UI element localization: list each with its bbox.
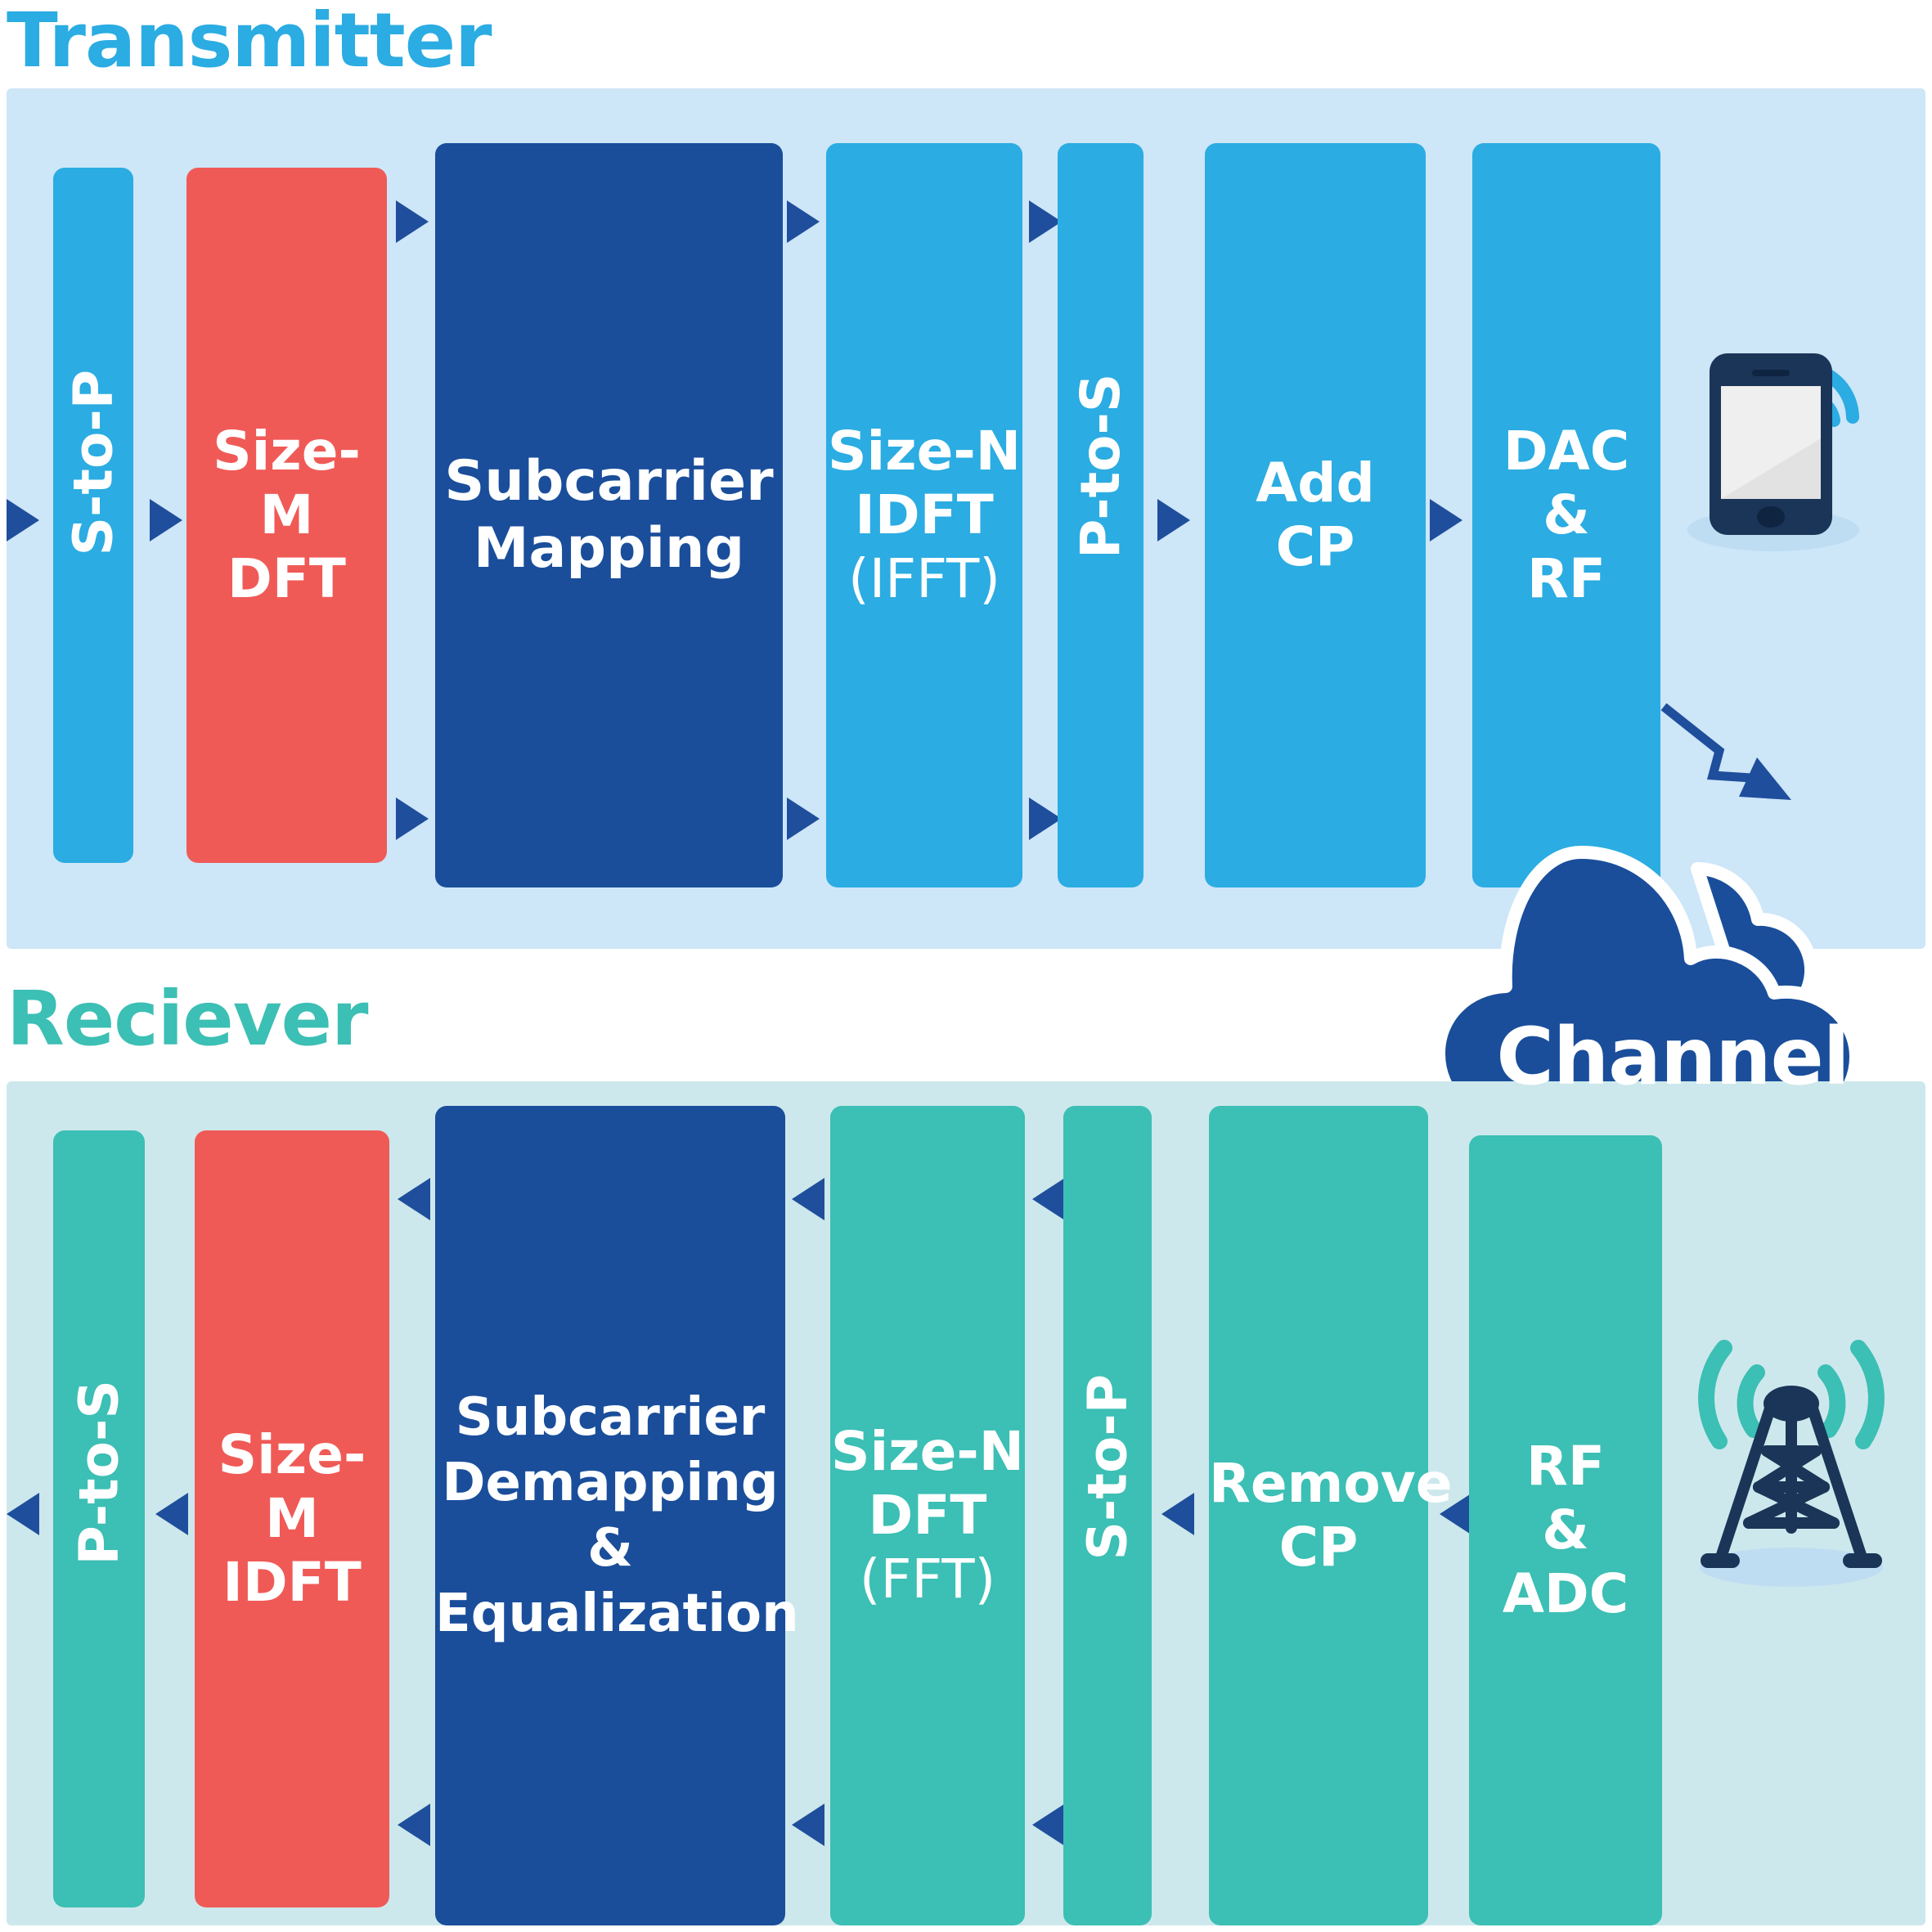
arrow-dft-to-mapping-bottom <box>396 798 429 840</box>
rx-block-size-n-dft-line1: Size-N <box>830 1420 1025 1484</box>
arrow-dft-to-demapping-bottom <box>792 1804 824 1846</box>
tx-block-add-cp[interactable]: Add CP <box>1205 143 1426 887</box>
arrow-s-to-p-to-dft <box>150 499 182 541</box>
arrow-s-to-p-to-dft-top <box>1032 1178 1065 1220</box>
arrow-dft-to-demapping-top <box>792 1178 824 1220</box>
smartphone-icon <box>1685 327 1873 556</box>
rx-block-subcarrier-demapping[interactable]: Subcarrier Demapping & Equalization <box>435 1106 785 1925</box>
tx-block-dac-rf-line1: DAC <box>1472 420 1660 483</box>
tx-block-subcarrier-mapping-line1: Subcarrier <box>435 448 783 515</box>
arrow-mapping-to-idft-top <box>787 200 820 243</box>
arrow-idft-to-p-to-s <box>155 1493 188 1535</box>
diagram-canvas: Transmitter S-to-P Size-M DFT Subcarrier… <box>0 0 1932 1932</box>
rx-block-size-n-dft[interactable]: Size-N DFT (FFT) <box>830 1106 1025 1925</box>
arrow-dft-to-mapping-top <box>396 200 429 243</box>
rx-block-rf-adc[interactable]: RF & ADC <box>1469 1135 1662 1925</box>
rx-block-p-to-s[interactable]: P-to-S <box>53 1130 145 1907</box>
arrow-s-to-p-to-dft-bottom <box>1032 1804 1065 1846</box>
tx-block-dac-rf-line3: RF <box>1472 547 1660 611</box>
rx-block-p-to-s-label: P-to-S <box>68 1380 131 1565</box>
rx-block-rf-adc-line2: & <box>1469 1498 1662 1562</box>
rx-block-size-m-idft[interactable]: Size-M IDFT <box>195 1130 389 1907</box>
tx-block-size-n-idft-line2: IDFT <box>826 483 1022 547</box>
rx-block-size-m-idft-line2: IDFT <box>195 1551 389 1615</box>
tx-block-subcarrier-mapping[interactable]: Subcarrier Mapping <box>435 143 783 887</box>
tx-block-p-to-s[interactable]: P-to-S <box>1058 143 1143 887</box>
arrow-mapping-to-idft-bottom <box>787 798 820 840</box>
rx-block-remove-cp-line1: Remove <box>1209 1452 1428 1516</box>
tx-block-size-n-idft-line1: Size-N <box>826 420 1022 483</box>
arrow-idft-to-p-to-s-top <box>1029 200 1062 243</box>
arrow-add-cp-to-dac-rf <box>1430 499 1462 541</box>
rx-block-subcarrier-demapping-line1: Subcarrier <box>435 1385 785 1450</box>
rx-block-size-n-dft-line2: DFT <box>830 1484 1025 1548</box>
arrow-remove-cp-to-s-to-p <box>1161 1493 1194 1535</box>
rx-block-size-m-idft-line1: Size-M <box>195 1423 389 1551</box>
rx-block-s-to-p[interactable]: S-to-P <box>1063 1106 1152 1925</box>
rx-block-s-to-p-label: S-to-P <box>1076 1373 1139 1560</box>
arrow-idft-to-p-to-s-bottom <box>1029 798 1062 840</box>
arrow-input-to-s-to-p <box>7 499 39 541</box>
tx-block-add-cp-line1: Add <box>1205 452 1426 515</box>
tx-block-subcarrier-mapping-line2: Mapping <box>435 515 783 582</box>
arrow-p-to-s-to-output <box>7 1493 39 1535</box>
rx-block-rf-adc-line3: ADC <box>1469 1562 1662 1626</box>
arrow-p-to-s-to-add-cp <box>1157 499 1190 541</box>
tx-block-size-m-dft-line1: Size-M <box>186 420 387 547</box>
arrow-demapping-to-idft-bottom <box>398 1804 430 1846</box>
transmitter-title: Transmitter <box>7 3 491 79</box>
tx-block-size-n-idft[interactable]: Size-N IDFT (IFFT) <box>826 143 1022 887</box>
tx-block-p-to-s-label: P-to-S <box>1069 373 1132 558</box>
rx-block-size-n-dft-line3: (FFT) <box>830 1548 1025 1611</box>
rx-block-remove-cp-line2: CP <box>1209 1516 1428 1579</box>
rx-block-remove-cp[interactable]: Remove CP <box>1209 1106 1428 1925</box>
tx-block-dac-rf-line2: & <box>1472 483 1660 547</box>
rx-block-subcarrier-demapping-line2: Demapping <box>435 1450 785 1516</box>
receiver-title: Reciever <box>7 982 367 1057</box>
tx-block-s-to-p-label: S-to-P <box>62 369 125 555</box>
rx-block-subcarrier-demapping-line3: & <box>435 1516 785 1581</box>
tx-block-size-m-dft-line2: DFT <box>186 547 387 611</box>
tx-block-s-to-p[interactable]: S-to-P <box>53 168 133 863</box>
tx-block-size-n-idft-line3: (IFFT) <box>826 547 1022 611</box>
tx-block-size-m-dft[interactable]: Size-M DFT <box>186 168 387 863</box>
tx-block-dac-rf[interactable]: DAC & RF <box>1472 143 1660 887</box>
tx-block-add-cp-line2: CP <box>1205 515 1426 579</box>
cell-tower-icon <box>1669 1325 1914 1595</box>
signal-path-tx-to-channel <box>1660 703 1824 826</box>
rx-block-subcarrier-demapping-line4: Equalization <box>435 1581 785 1647</box>
arrow-demapping-to-idft-top <box>398 1178 430 1220</box>
rx-block-rf-adc-line1: RF <box>1469 1435 1662 1498</box>
